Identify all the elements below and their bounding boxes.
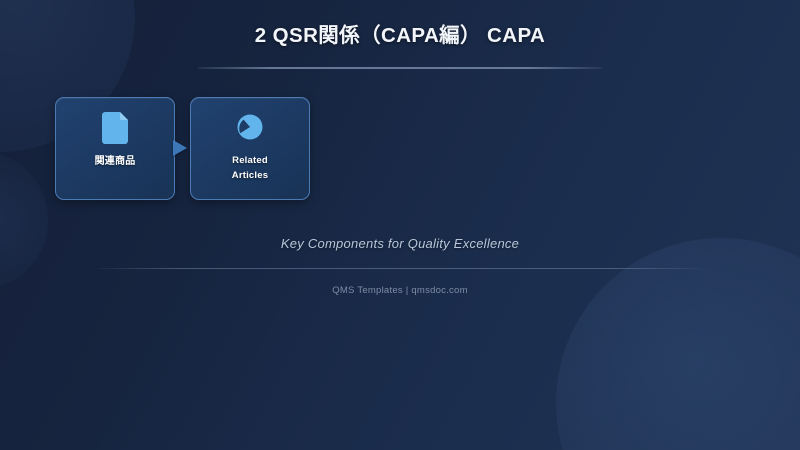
card-label: 関連商品 [56, 154, 174, 170]
footer-divider [98, 268, 702, 269]
title-divider [198, 67, 602, 69]
card-related-products[interactable]: 関連商品 [55, 97, 175, 200]
slide-header: 2 QSR関係（CAPA編） CAPA [0, 24, 800, 69]
card-label-line-1: Related [232, 155, 268, 166]
document-icon [100, 112, 130, 144]
background-circle-left-edge [0, 150, 48, 290]
arrow-right-icon [173, 140, 187, 156]
page-title: 2 QSR関係（CAPA編） CAPA [0, 24, 800, 49]
background-circle-bottom-right [556, 238, 800, 450]
card-label-line-2: Articles [232, 170, 268, 181]
pie-circle-icon [235, 112, 265, 144]
card-label: Related Articles [191, 154, 309, 183]
card-related-articles[interactable]: Related Articles [190, 97, 310, 200]
slide-tagline: Key Components for Quality Excellence [0, 236, 800, 251]
slide-canvas: 2 QSR関係（CAPA編） CAPA 関連商品 Related A [0, 0, 800, 450]
slide-footer: QMS Templates | qmsdoc.com [0, 285, 800, 296]
